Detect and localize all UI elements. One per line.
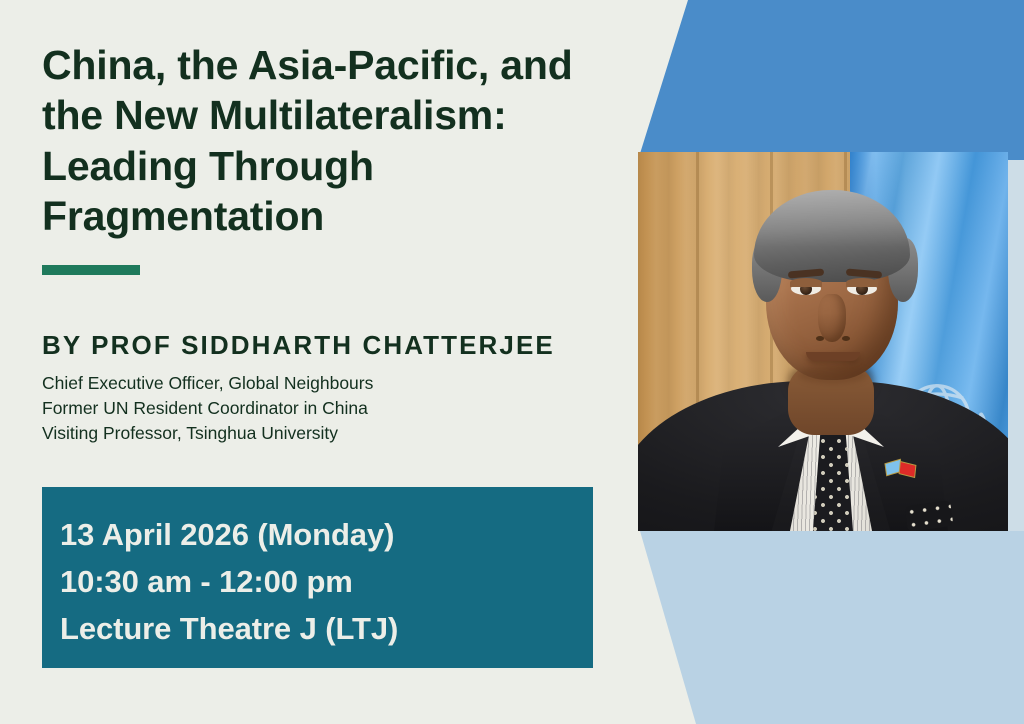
event-venue: Lecture Theatre J (LTJ) bbox=[60, 605, 593, 652]
speaker-role: Chief Executive Officer, Global Neighbou… bbox=[42, 371, 622, 396]
chin-shadow bbox=[798, 366, 868, 384]
light-blue-wedge-shape bbox=[620, 531, 1024, 724]
event-time: 10:30 am - 12:00 pm bbox=[60, 558, 593, 605]
event-poster: China, the Asia-Pacific, and the New Mul… bbox=[0, 0, 1024, 724]
blue-hexagon-shape bbox=[620, 0, 1024, 160]
title-block: China, the Asia-Pacific, and the New Mul… bbox=[42, 40, 602, 242]
photo-scene bbox=[638, 152, 1008, 531]
mouth bbox=[806, 352, 860, 361]
pocket-square bbox=[904, 500, 953, 531]
speaker-role: Visiting Professor, Tsinghua University bbox=[42, 421, 622, 446]
speaker-byline: BY PROF SIDDHARTH CHATTERJEE bbox=[42, 330, 622, 361]
speaker-photo bbox=[638, 152, 1008, 531]
nose bbox=[818, 294, 846, 342]
eyelid-right bbox=[846, 278, 878, 287]
speaker-block: BY PROF SIDDHARTH CHATTERJEE Chief Execu… bbox=[42, 330, 622, 446]
event-date: 13 April 2026 (Monday) bbox=[60, 511, 593, 558]
nostril-right bbox=[842, 336, 850, 341]
nostril-left bbox=[816, 336, 824, 341]
speaker-role: Former UN Resident Coordinator in China bbox=[42, 396, 622, 421]
page-title: China, the Asia-Pacific, and the New Mul… bbox=[42, 40, 602, 242]
accent-divider bbox=[42, 265, 140, 275]
right-column-shape bbox=[1008, 0, 1024, 724]
eyelid-left bbox=[790, 278, 822, 287]
event-details-box: 13 April 2026 (Monday) 10:30 am - 12:00 … bbox=[42, 487, 593, 668]
